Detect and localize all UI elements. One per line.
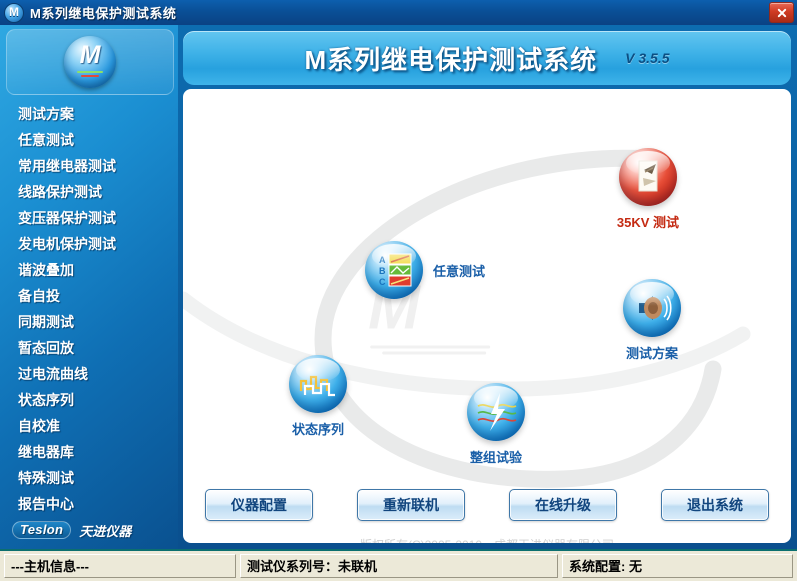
icon-test-scheme-label: 测试方案 — [592, 343, 712, 362]
window-title: M系列继电保护测试系统 — [30, 3, 176, 22]
sidebar-item-line-protection[interactable]: 线路保护测试 — [0, 179, 178, 205]
sidebar-item-harmonic-overlay[interactable]: 谐波叠加 — [0, 257, 178, 283]
close-icon[interactable] — [769, 2, 794, 23]
svg-text:A: A — [379, 255, 386, 265]
icon-hv-test-label: 35KV 测试 — [588, 212, 708, 231]
speaker-scheme-icon — [623, 279, 681, 337]
sidebar-logo-panel: M — [6, 29, 174, 95]
sidebar-item-self-calibration[interactable]: 自校准 — [0, 413, 178, 439]
lightning-group-test-icon — [467, 383, 525, 441]
hv-test-icon — [619, 148, 677, 206]
brand-latin-text: Teslon — [12, 521, 71, 539]
sidebar-item-auto-transfer[interactable]: 备自投 — [0, 283, 178, 309]
online-upgrade-button[interactable]: 在线升级 — [509, 489, 617, 521]
copyright-text: 版权所有(C)2005-2010 成都天进仪器有限公司 — [183, 536, 791, 543]
exit-system-button[interactable]: 退出系统 — [661, 489, 769, 521]
sidebar: M 测试方案 任意测试 常用继电器测试 线路保护测试 变压器保护测试 发电机保护… — [0, 25, 179, 549]
watermark-bar-2 — [382, 352, 486, 355]
svg-text:B: B — [379, 266, 386, 276]
application-window: M系列继电保护测试系统 M 测试方案 任意测试 常用继电器测试 线路保护测试 变… — [0, 0, 797, 581]
status-host-info: ---主机信息--- — [4, 554, 236, 578]
m-globe-large-icon: M — [64, 36, 116, 88]
sidebar-item-state-sequence[interactable]: 状态序列 — [0, 387, 178, 413]
sidebar-item-free-test[interactable]: 任意测试 — [0, 127, 178, 153]
status-config: 系统配置: 无 — [562, 554, 793, 578]
reconnect-button[interactable]: 重新联机 — [357, 489, 465, 521]
status-serial: 测试仪系列号：未联机 — [240, 554, 558, 578]
content-canvas: M A B C — [183, 89, 791, 543]
m-globe-icon — [4, 3, 24, 23]
icon-test-scheme[interactable]: 测试方案 — [592, 279, 712, 362]
sidebar-item-overcurrent-curve[interactable]: 过电流曲线 — [0, 361, 178, 387]
sidebar-logo-letter: M — [64, 42, 116, 68]
sidebar-menu: 测试方案 任意测试 常用继电器测试 线路保护测试 变压器保护测试 发电机保护测试… — [0, 101, 178, 517]
sidebar-item-report-center[interactable]: 报告中心 — [0, 491, 178, 517]
sidebar-item-special-test[interactable]: 特殊测试 — [0, 465, 178, 491]
icon-state-sequence-label: 状态序列 — [258, 419, 378, 438]
title-bar: M系列继电保护测试系统 — [0, 0, 797, 26]
instrument-config-button[interactable]: 仪器配置 — [205, 489, 313, 521]
icon-free-test-label: 任意测试 — [433, 261, 485, 280]
banner-version: V 3.5.5 — [625, 50, 669, 66]
logo-green-bar — [77, 71, 103, 73]
sidebar-item-transient-replay[interactable]: 暂态回放 — [0, 335, 178, 361]
sidebar-item-common-relay-test[interactable]: 常用继电器测试 — [0, 153, 178, 179]
logo-red-bar — [81, 75, 99, 77]
main-panel: M系列继电保护测试系统 V 3.5.5 M A — [178, 25, 797, 549]
sidebar-item-test-scheme[interactable]: 测试方案 — [0, 101, 178, 127]
sidebar-item-sync-test[interactable]: 同期测试 — [0, 309, 178, 335]
icon-hv-test[interactable]: 35KV 测试 — [588, 148, 708, 231]
watermark-bar-1 — [370, 346, 490, 349]
header-banner: M系列继电保护测试系统 V 3.5.5 — [183, 31, 791, 85]
sidebar-item-relay-library[interactable]: 继电器库 — [0, 439, 178, 465]
brand-logo: Teslon 天进仪器 — [12, 519, 168, 541]
sidebar-item-generator-prot[interactable]: 发电机保护测试 — [0, 231, 178, 257]
waveform-sequence-icon — [289, 355, 347, 413]
sidebar-item-transformer-prot[interactable]: 变压器保护测试 — [0, 205, 178, 231]
status-bar: ---主机信息--- 测试仪系列号：未联机 系统配置: 无 — [0, 549, 797, 581]
icon-state-sequence[interactable]: 状态序列 — [258, 355, 378, 438]
banner-title: M系列继电保护测试系统 — [304, 40, 597, 77]
svg-text:C: C — [379, 277, 386, 287]
abc-chart-icon: A B C — [365, 241, 423, 299]
icon-group-test-label: 整组试验 — [436, 447, 556, 466]
action-button-row: 仪器配置 重新联机 在线升级 退出系统 — [183, 489, 791, 521]
brand-chinese-text: 天进仪器 — [79, 521, 131, 540]
icon-free-test[interactable]: A B C 任意测试 — [365, 241, 485, 299]
icon-group-test[interactable]: 整组试验 — [436, 383, 556, 466]
